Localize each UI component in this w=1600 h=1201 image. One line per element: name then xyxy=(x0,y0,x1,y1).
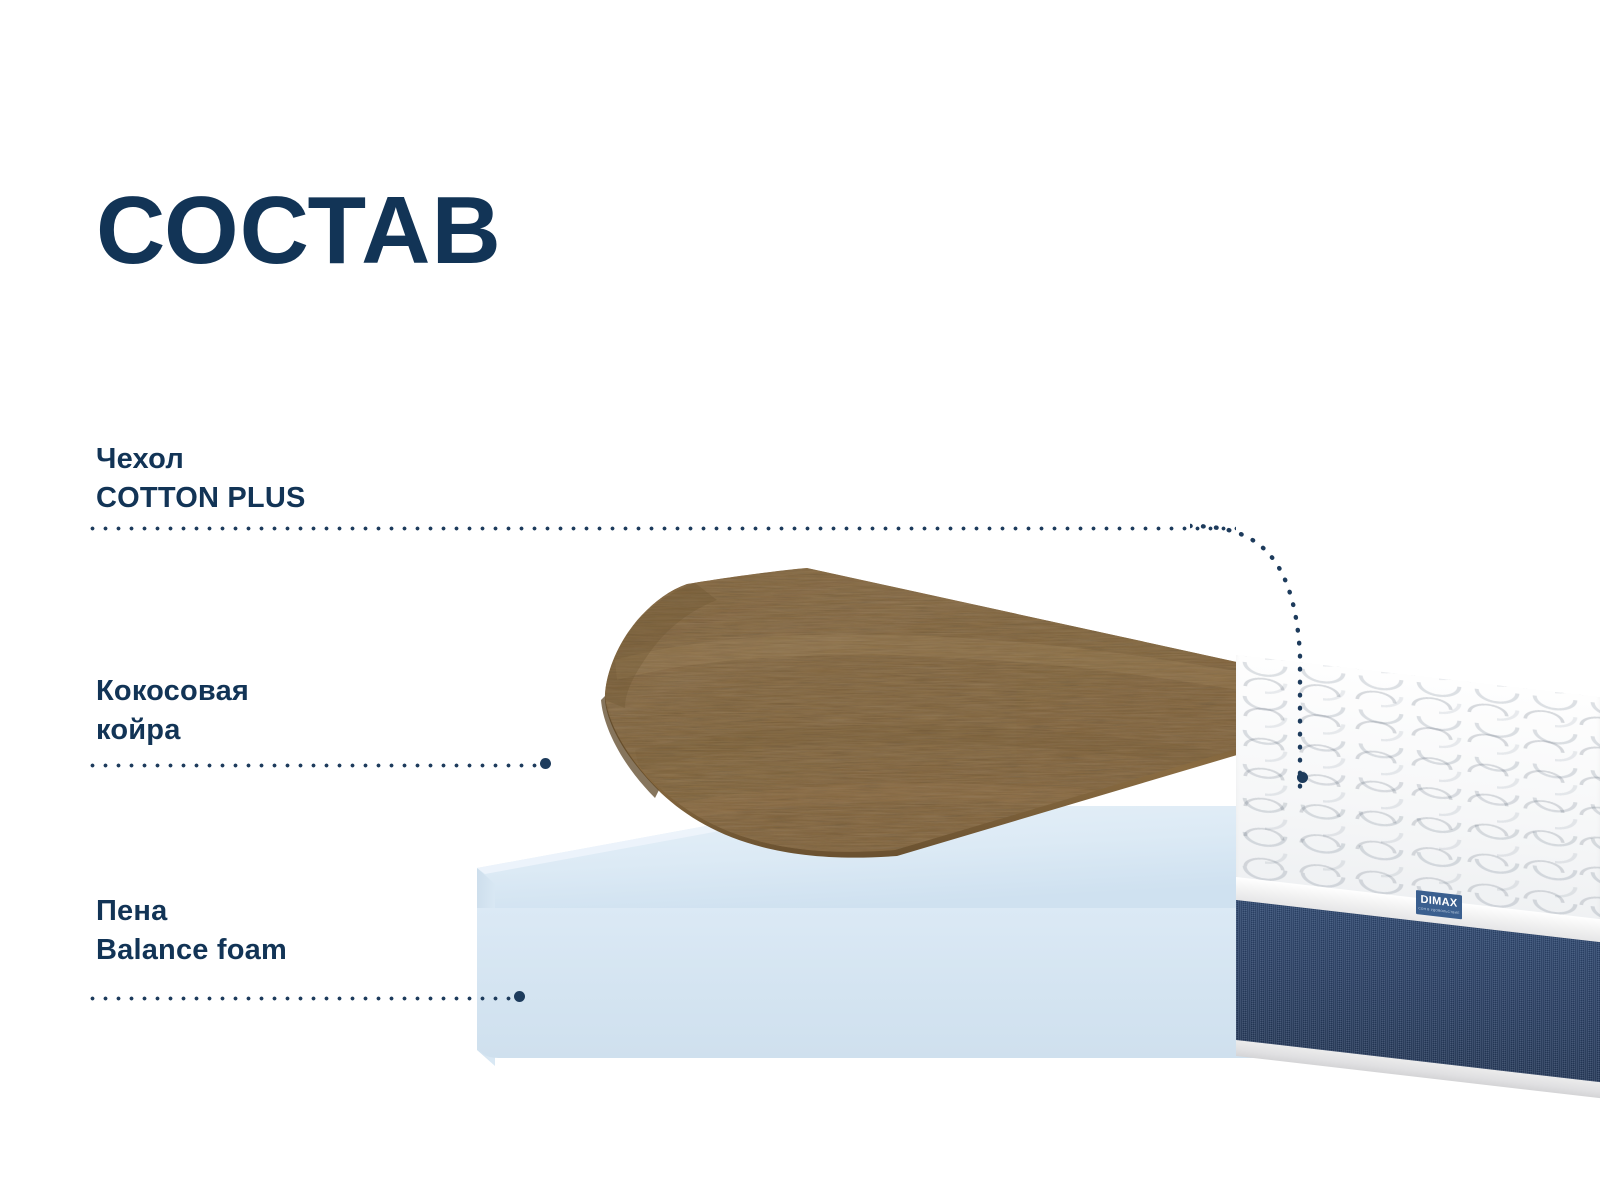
page-title: СОСТАВ xyxy=(96,183,502,279)
label-cover: Чехол COTTON PLUS xyxy=(96,440,306,517)
dimax-brand-tag: DIMAX СОН В УДОВОЛЬСТВИЕ xyxy=(1416,890,1462,919)
label-coir-line1: Кокосовая xyxy=(96,675,249,707)
cover-bottom-piping xyxy=(1236,1040,1600,1098)
leader-line-foam xyxy=(90,996,514,1001)
label-foam-line1: Пена xyxy=(96,895,167,927)
leader-endpoint-coir xyxy=(540,758,551,769)
label-coconut-coir: Кокосовая койра xyxy=(96,672,249,749)
layer-foam-balance-foam xyxy=(455,800,1255,1075)
mattress-side-panel xyxy=(1236,900,1600,1084)
dimax-brand-subtitle: СОН В УДОВОЛЬСТВИЕ xyxy=(1418,907,1459,915)
leader-line-cover xyxy=(90,526,1236,531)
dimax-brand-text: DIMAX xyxy=(1421,895,1458,910)
label-balance-foam: Пена Balance foam xyxy=(96,892,287,969)
label-cover-line2: COTTON PLUS xyxy=(96,479,306,518)
cover-top-piping xyxy=(1236,877,1600,945)
layer-coconut-coir xyxy=(455,560,1295,910)
leader-endpoint-foam xyxy=(514,991,525,1002)
label-cover-line1: Чехол xyxy=(96,443,184,475)
label-coir-line2: койра xyxy=(96,711,249,750)
leader-line-cover-curve xyxy=(1190,505,1320,795)
leader-line-coir xyxy=(90,763,542,768)
leader-endpoint-cover xyxy=(1297,772,1308,783)
label-foam-line2: Balance foam xyxy=(96,931,287,970)
